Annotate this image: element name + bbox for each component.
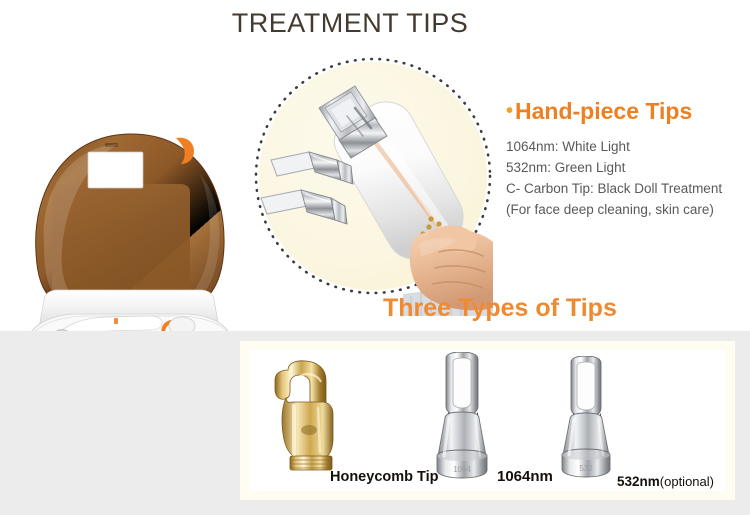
- spec-line: C- Carbon Tip: Black Doll Treatment: [506, 178, 750, 199]
- tip-label-honeycomb: Honeycomb Tip: [330, 469, 439, 485]
- three-types-heading: Three Types of Tips: [383, 294, 617, 323]
- tip-532-image: 532: [556, 356, 618, 478]
- bullet-icon: •: [506, 100, 513, 122]
- tip-engraving: 532: [579, 464, 593, 473]
- page-title: TREATMENT TIPS: [0, 8, 700, 39]
- tip-1064-image: 1064: [430, 352, 496, 480]
- handpiece-tips-heading-text: Hand-piece Tips: [515, 98, 692, 124]
- spec-line: 1064nm: White Light: [506, 136, 750, 157]
- handpiece-and-tips: [253, 56, 493, 316]
- tip-label-532-note: (optional): [660, 474, 714, 489]
- tip-engraving: 1064: [453, 465, 471, 474]
- spec-line: (For face deep cleaning, skin care): [506, 199, 750, 220]
- handpiece-spec-list: 1064nm: White Light 532nm: Green Light C…: [506, 136, 750, 220]
- tip-label-532: 532nm(optional): [617, 474, 714, 489]
- handpiece-tips-heading: •Hand-piece Tips: [506, 98, 692, 125]
- honeycomb-tip-image: [268, 358, 346, 478]
- treatment-tips-page: TREATMENT TIPS: [0, 0, 750, 515]
- handpiece-closeup-image: [253, 56, 493, 296]
- tip-label-1064: 1064nm: [497, 468, 553, 485]
- spec-line: 532nm: Green Light: [506, 157, 750, 178]
- tip-label-532-text: 532nm: [617, 474, 660, 489]
